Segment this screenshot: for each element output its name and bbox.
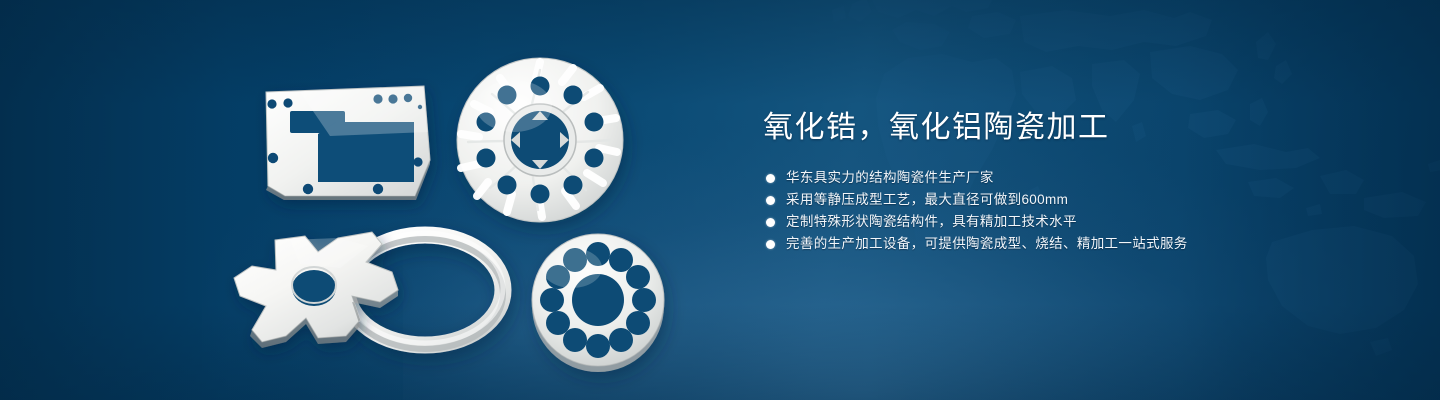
list-item-label: 完善的生产加工设备，可提供陶瓷成型、烧结、精加工一站式服务 (786, 233, 1188, 255)
bullet-dot-icon (766, 240, 775, 249)
list-item: 华东具实力的结构陶瓷件生产厂家 (766, 167, 1383, 189)
list-item: 定制特殊形状陶瓷结构件，具有精加工技术水平 (766, 211, 1383, 233)
bullet-dot-icon (766, 218, 775, 227)
bullet-dot-icon (766, 196, 775, 205)
promo-banner: 氧化锆，氧化铝陶瓷加工 华东具实力的结构陶瓷件生产厂家 采用等静压成型工艺，最大… (0, 0, 1440, 400)
list-item-label: 定制特殊形状陶瓷结构件，具有精加工技术水平 (786, 211, 1077, 233)
page-title: 氧化锆，氧化铝陶瓷加工 (763, 108, 1383, 148)
bullet-dot-icon (766, 174, 775, 183)
list-item-label: 采用等静压成型工艺，最大直径可做到600mm (786, 189, 1068, 211)
list-item: 采用等静压成型工艺，最大直径可做到600mm (766, 189, 1383, 211)
list-item: 完善的生产加工设备，可提供陶瓷成型、烧结、精加工一站式服务 (766, 233, 1383, 255)
feature-list: 华东具实力的结构陶瓷件生产厂家 采用等静压成型工艺，最大直径可做到600mm 定… (766, 167, 1383, 255)
banner-copy: 氧化锆，氧化铝陶瓷加工 华东具实力的结构陶瓷件生产厂家 采用等静压成型工艺，最大… (763, 108, 1383, 255)
list-item-label: 华东具实力的结构陶瓷件生产厂家 (786, 167, 994, 189)
